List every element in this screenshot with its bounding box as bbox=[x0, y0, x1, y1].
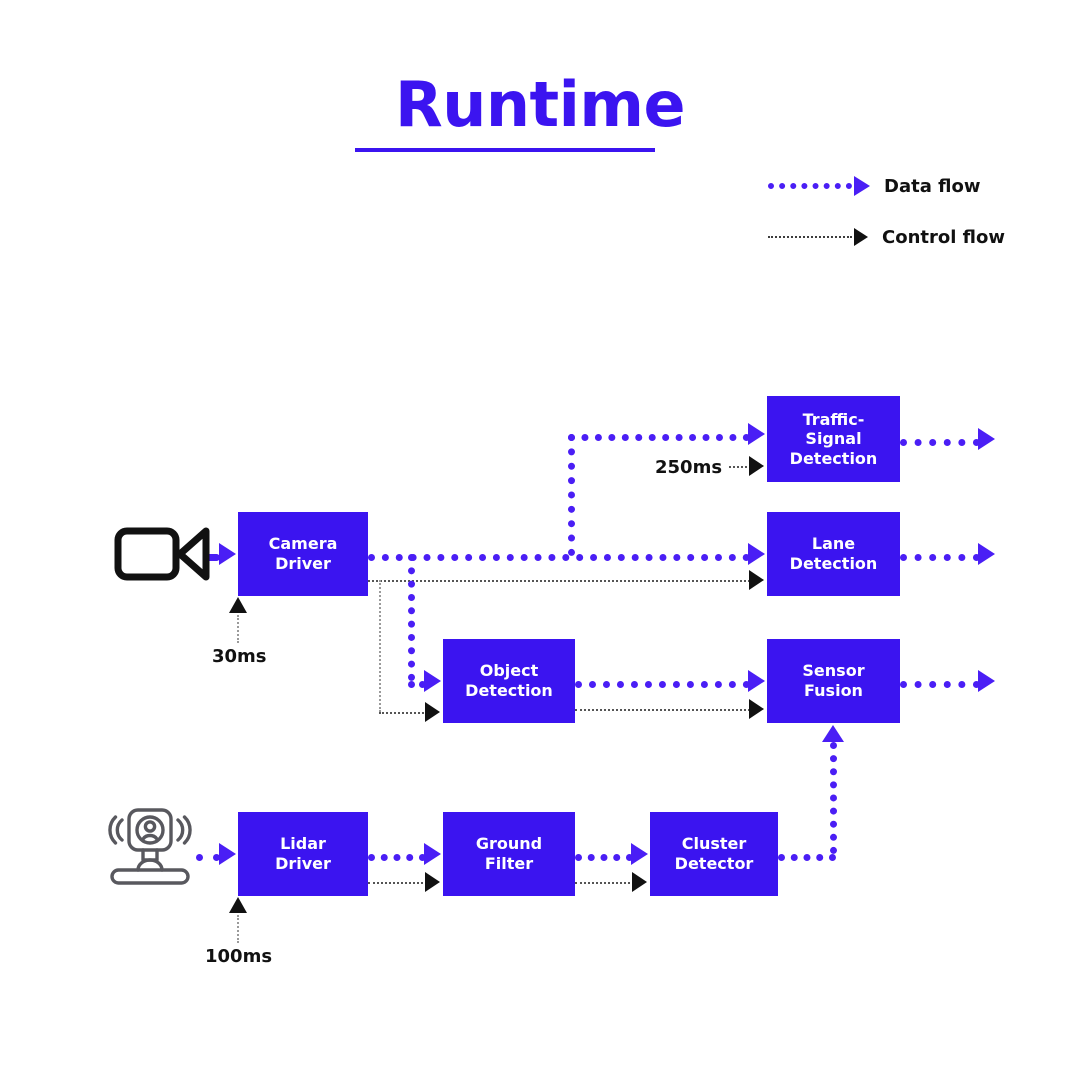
video-camera-icon bbox=[114, 519, 214, 593]
arrowhead-traffic-signal-period-in bbox=[749, 456, 764, 476]
legend-label-control-flow: Control flow bbox=[882, 227, 1005, 248]
node-label-cluster-detector: ClusterDetector bbox=[675, 834, 754, 873]
arrowhead-cluster-detector-control-in bbox=[632, 872, 647, 892]
arrowhead-sensor-fusion-control-in bbox=[749, 699, 764, 719]
page-title: Runtime bbox=[0, 74, 1080, 136]
timing-label-camera-driver: 30ms bbox=[212, 646, 267, 667]
arrowhead-lidar-driver-period-in bbox=[229, 897, 247, 913]
timing-label-lidar-driver: 100ms bbox=[205, 946, 272, 967]
node-traffic-signal-detection[interactable]: Traffic-SignalDetection bbox=[767, 396, 900, 482]
legend-item-data-flow: Data flow bbox=[768, 176, 980, 196]
edge-cluster-detector-to-sensor-fusion-riser bbox=[830, 742, 837, 854]
arrowhead-object-detection-control-in bbox=[425, 702, 440, 722]
control-flow-line-icon bbox=[768, 236, 852, 238]
edge-camera-driver-control-trunk bbox=[368, 580, 750, 582]
arrowhead-sensor-fusion-data-in bbox=[748, 670, 765, 692]
legend-item-control-flow: Control flow bbox=[768, 227, 1005, 247]
arrowhead-ground-filter-data-in bbox=[424, 843, 441, 865]
node-label-traffic-signal-detection: Traffic-SignalDetection bbox=[790, 410, 878, 469]
node-sensor-fusion[interactable]: SensorFusion bbox=[767, 639, 900, 723]
edge-ground-filter-to-cluster-detector bbox=[575, 854, 633, 861]
node-lidar-driver[interactable]: LidarDriver bbox=[238, 812, 368, 896]
legend-label-data-flow: Data flow bbox=[884, 176, 980, 197]
node-object-detection[interactable]: ObjectDetection bbox=[443, 639, 575, 723]
edge-camera-driver-data-trunk bbox=[368, 554, 750, 561]
edge-object-detection-to-sensor-fusion bbox=[575, 681, 750, 688]
arrowhead-cluster-detector-data-in bbox=[631, 843, 648, 865]
edge-camera-driver-to-object-detection-dropper bbox=[408, 554, 415, 681]
node-cluster-detector[interactable]: ClusterDetector bbox=[650, 812, 778, 896]
data-flow-line-icon bbox=[768, 183, 852, 189]
node-label-lidar-driver: LidarDriver bbox=[275, 834, 331, 873]
lidar-sensor-icon bbox=[98, 804, 202, 900]
edge-30ms-to-camera-driver bbox=[237, 615, 239, 643]
arrowhead-camera-driver-in bbox=[219, 543, 236, 565]
node-label-ground-filter: GroundFilter bbox=[476, 834, 542, 873]
arrowhead-lane-detection-output bbox=[978, 543, 995, 565]
data-flow-arrow-icon bbox=[854, 176, 870, 196]
control-flow-arrow-icon bbox=[854, 228, 868, 246]
arrowhead-lidar-driver-in bbox=[219, 843, 236, 865]
arrowhead-ground-filter-control-in bbox=[425, 872, 440, 892]
edge-250ms-to-traffic-signal-detection bbox=[729, 466, 751, 468]
edge-camera-driver-to-object-detection-control bbox=[379, 712, 427, 714]
node-label-camera-driver: CameraDriver bbox=[269, 534, 338, 573]
node-label-sensor-fusion: SensorFusion bbox=[802, 661, 864, 700]
edge-lidar-driver-to-ground-filter bbox=[368, 854, 426, 861]
timing-label-traffic-signal-detection: 250ms bbox=[655, 457, 722, 478]
edge-object-detection-to-sensor-fusion-control bbox=[575, 709, 750, 711]
edge-camera-driver-to-traffic-signal-riser bbox=[568, 434, 575, 556]
arrowhead-lane-detection-data-in bbox=[748, 543, 765, 565]
node-camera-driver[interactable]: CameraDriver bbox=[238, 512, 368, 596]
edge-sensor-fusion-output bbox=[900, 681, 980, 688]
node-label-lane-detection: LaneDetection bbox=[790, 534, 878, 573]
arrowhead-traffic-signal-data-in bbox=[748, 423, 765, 445]
page-title-underline bbox=[355, 148, 655, 152]
arrowhead-object-detection-data-in bbox=[424, 670, 441, 692]
node-ground-filter[interactable]: GroundFilter bbox=[443, 812, 575, 896]
arrowhead-traffic-signal-output bbox=[978, 428, 995, 450]
arrowhead-sensor-fusion-bottom-in bbox=[822, 725, 844, 742]
arrowhead-sensor-fusion-output bbox=[978, 670, 995, 692]
edge-lane-detection-output bbox=[900, 554, 980, 561]
node-lane-detection[interactable]: LaneDetection bbox=[767, 512, 900, 596]
edge-100ms-to-lidar-driver bbox=[237, 915, 239, 943]
arrowhead-lane-detection-control-in bbox=[749, 570, 764, 590]
edge-camera-driver-to-object-detection-control-dropper bbox=[379, 580, 381, 712]
edge-cluster-detector-to-sensor-fusion bbox=[778, 854, 836, 861]
edge-traffic-signal-detection-output bbox=[900, 439, 980, 446]
diagram-canvas: Runtime Data flow Control flow bbox=[0, 0, 1080, 1080]
arrowhead-camera-driver-period-in bbox=[229, 597, 247, 613]
edge-camera-driver-to-traffic-signal bbox=[568, 434, 750, 441]
edge-ground-filter-to-cluster-detector-control bbox=[575, 882, 634, 884]
edge-lidar-driver-to-ground-filter-control bbox=[368, 882, 427, 884]
node-label-object-detection: ObjectDetection bbox=[465, 661, 553, 700]
